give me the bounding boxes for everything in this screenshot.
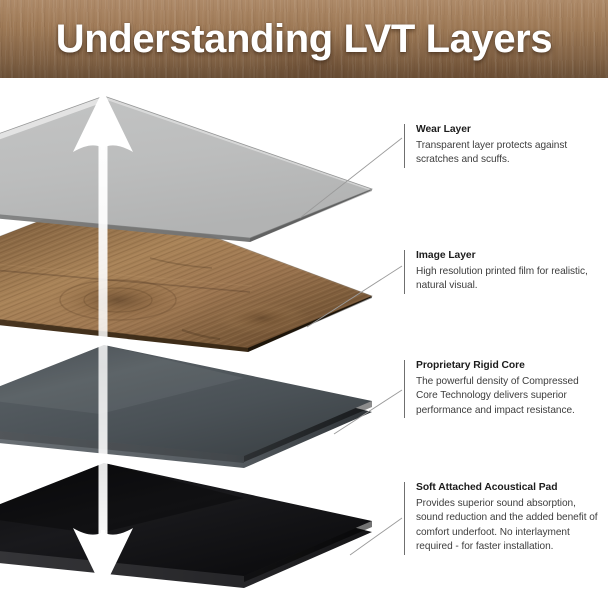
label-body-wear: Transparent layer protects against scrat…: [416, 139, 602, 168]
label-title-wear: Wear Layer: [416, 124, 602, 137]
page-title: Understanding LVT Layers: [0, 0, 608, 78]
infographic-canvas: Understanding LVT Layers: [0, 0, 608, 592]
label-body-pad: Provides superior sound absorption, soun…: [416, 497, 602, 555]
label-title-pad: Soft Attached Acoustical Pad: [416, 482, 602, 495]
header-banner: Understanding LVT Layers: [0, 0, 608, 78]
label-block-image: Image Layer High resolution printed film…: [404, 250, 602, 294]
label-title-core: Proprietary Rigid Core: [416, 360, 602, 373]
layer-shape-wear: [0, 96, 372, 242]
label-title-image: Image Layer: [416, 250, 602, 263]
label-body-image: High resolution printed film for realist…: [416, 265, 602, 294]
layer-shape-core: [0, 345, 372, 468]
layer-shape-pad: [0, 463, 372, 588]
label-block-core: Proprietary Rigid Core The powerful dens…: [404, 360, 602, 418]
label-body-core: The powerful density of Compressed Core …: [416, 375, 602, 418]
label-block-wear: Wear Layer Transparent layer protects ag…: [404, 124, 602, 168]
label-block-pad: Soft Attached Acoustical Pad Provides su…: [404, 482, 602, 555]
